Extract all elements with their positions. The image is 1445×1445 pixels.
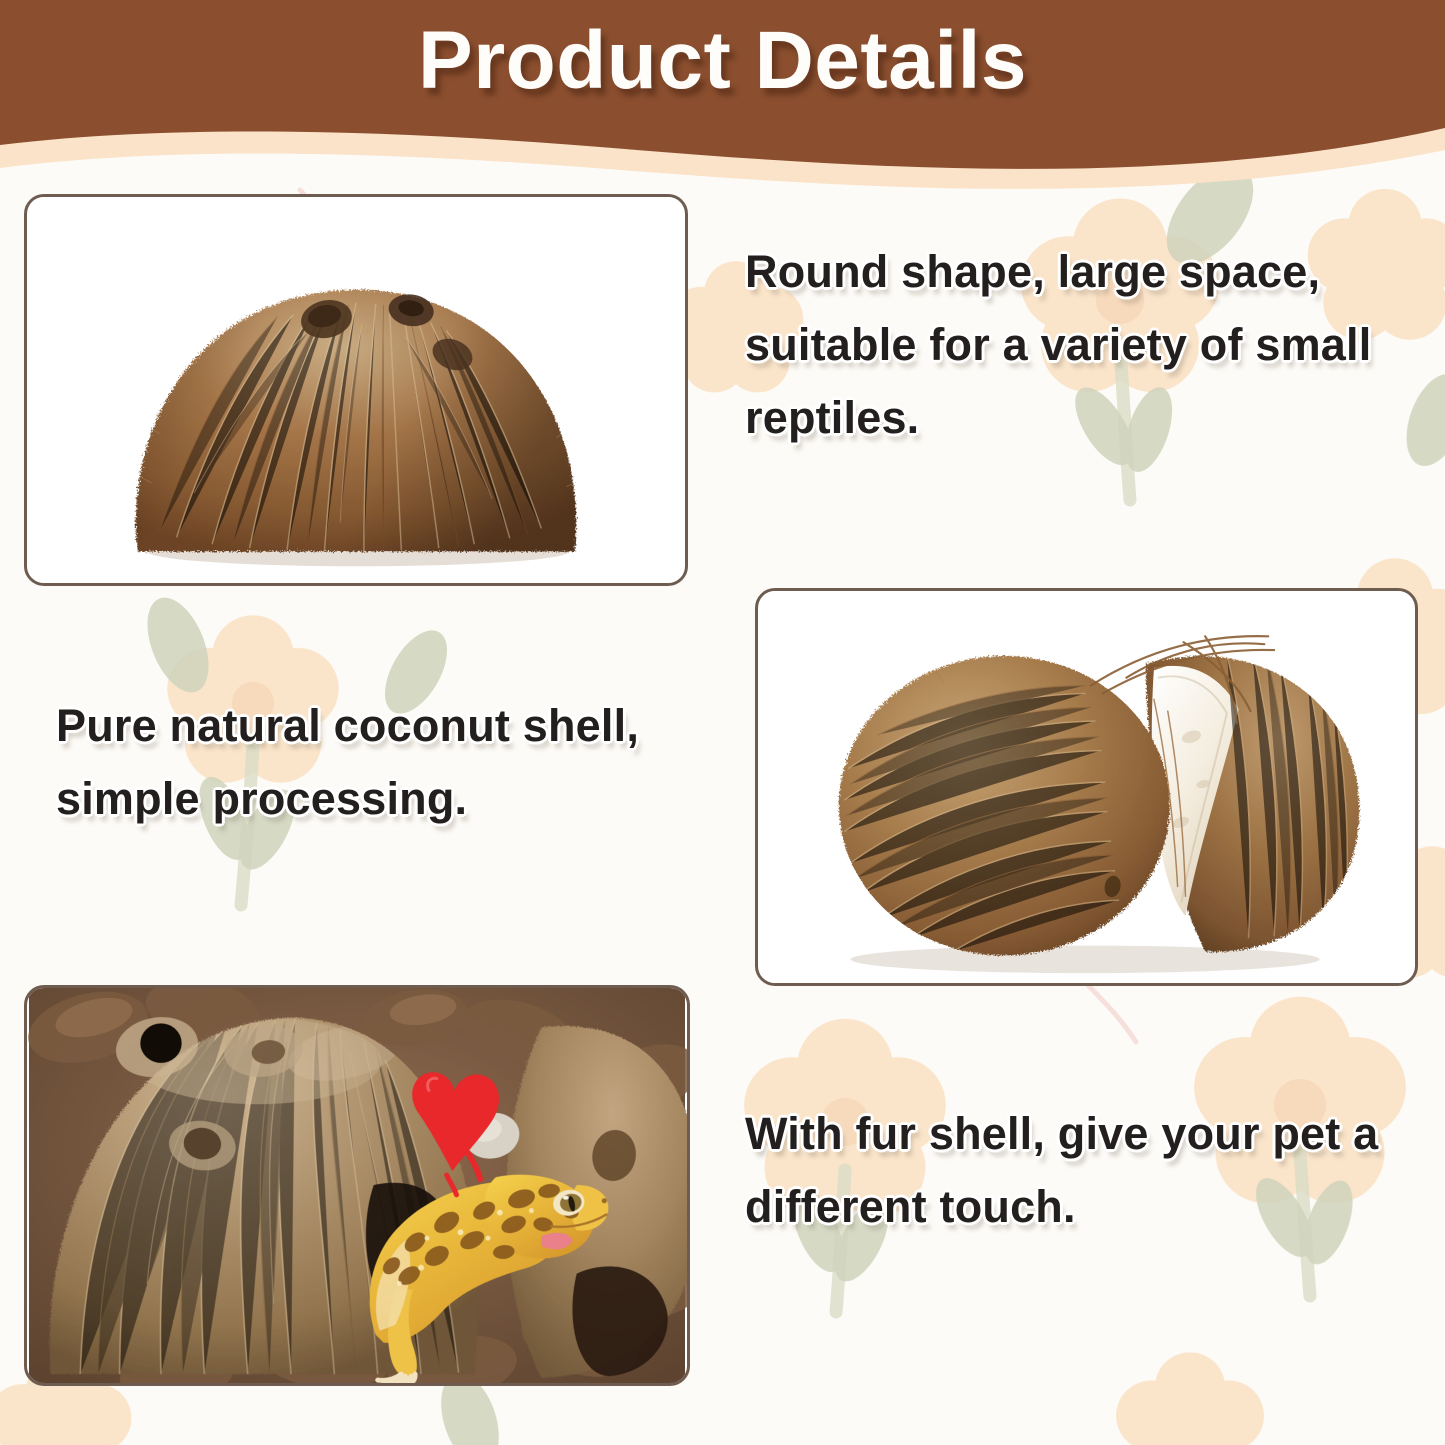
feature-caption-pure-natural: Pure natural coconut shell, simple proce… — [56, 690, 716, 836]
coconut-shell-dome-photo — [27, 197, 685, 583]
page-header: Product Details — [0, 0, 1445, 210]
product-details-infographic: Product Details — [0, 0, 1445, 1445]
feature-image-card-fur-shell[interactable] — [24, 985, 690, 1386]
gecko-in-coconut-hide-photo — [27, 988, 687, 1383]
feature-image-card-pure-natural[interactable] — [755, 588, 1418, 986]
page-title: Product Details — [0, 14, 1445, 108]
feature-caption-fur-shell: With fur shell, give your pet a differen… — [745, 1098, 1435, 1244]
feature-image-card-round-shape[interactable] — [24, 194, 688, 586]
feature-caption-round-shape: Round shape, large space, suitable for a… — [745, 236, 1435, 455]
split-coconut-photo — [758, 591, 1415, 983]
